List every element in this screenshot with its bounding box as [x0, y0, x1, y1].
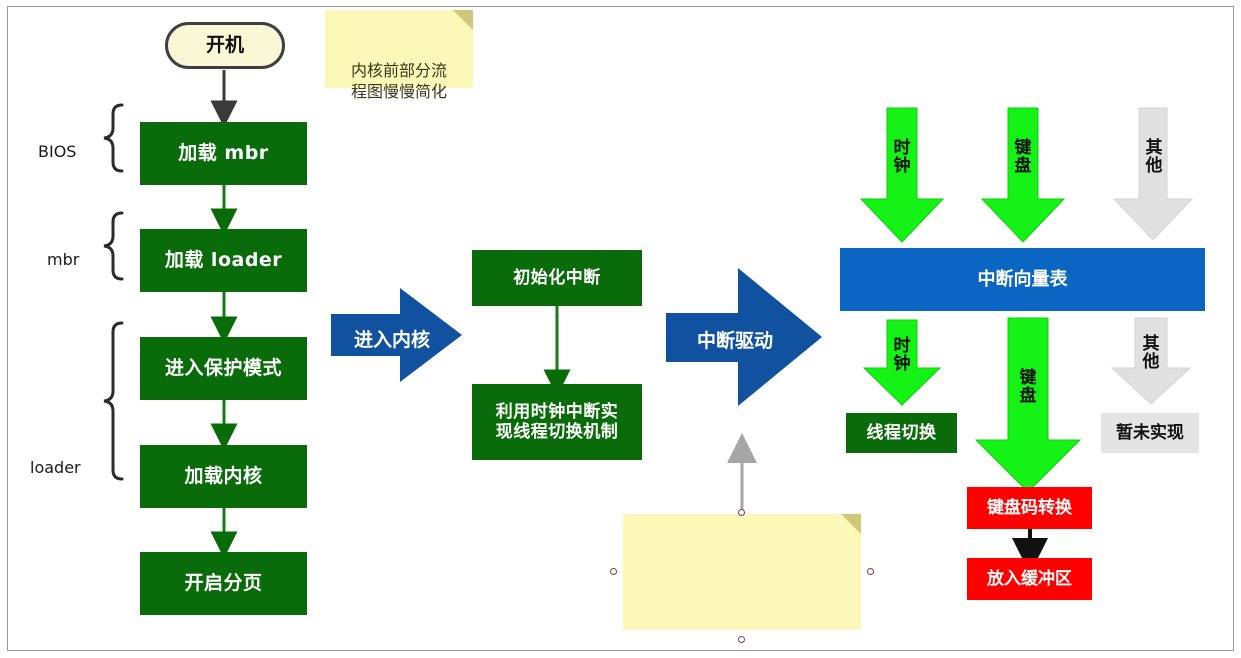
node-load-loader[interactable]: 加载 loader — [140, 229, 307, 292]
node-interrupt-vector-table[interactable]: 中断向量表 — [840, 248, 1205, 311]
sticky-note-top-text: 内核前部分流 程图慢慢简化 — [351, 61, 447, 101]
note-fold-icon — [453, 10, 473, 30]
node-thread-switch[interactable]: 线程切换 — [846, 413, 957, 453]
note-handle-right[interactable] — [867, 568, 874, 575]
note-handle-bottom[interactable] — [738, 636, 745, 643]
dispatch-arrow-label-other: 其 他 — [1136, 336, 1166, 372]
note-handle-left[interactable] — [610, 568, 617, 575]
sticky-note-bottom[interactable]: 此为对操作系统的理解， 操作系统就是一个中断驱 动的死循环程序 — [623, 514, 861, 630]
stage-arrow-label-enter-kernel: 进入内核 — [342, 325, 442, 352]
note-fold-icon — [841, 514, 861, 534]
dispatch-arrow-label-clock: 时 钟 — [887, 338, 917, 374]
source-arrow-label-other: 其 他 — [1139, 140, 1169, 176]
node-load-kernel[interactable]: 加载内核 — [140, 445, 307, 508]
node-enable-paging[interactable]: 开启分页 — [140, 552, 307, 615]
node-start-power-on[interactable]: 开机 — [165, 22, 285, 69]
node-put-into-buffer[interactable]: 放入缓冲区 — [967, 558, 1092, 600]
stage-arrow-label-interrupt-driven: 中断驱动 — [680, 326, 790, 353]
note-handle-anchor[interactable] — [738, 509, 745, 516]
node-enter-protected-mode[interactable]: 进入保护模式 — [140, 337, 307, 400]
node-load-mbr[interactable]: 加载 mbr — [140, 122, 307, 185]
node-keycode-convert[interactable]: 键盘码转换 — [967, 487, 1092, 529]
source-arrow-label-keyboard: 键 盘 — [1008, 140, 1038, 176]
brace-label-loader: loader — [30, 458, 81, 477]
diagram-canvas: BIOS mbr loader 开机 加载 mbr 加载 loader 进入保护… — [0, 0, 1241, 658]
dispatch-arrow-label-keyboard: 键 盘 — [1013, 370, 1043, 406]
source-arrow-label-clock: 时 钟 — [887, 140, 917, 176]
brace-label-bios: BIOS — [38, 142, 76, 161]
node-not-implemented[interactable]: 暂未实现 — [1101, 413, 1199, 453]
node-init-interrupt[interactable]: 初始化中断 — [472, 250, 642, 306]
brace-label-mbr: mbr — [47, 250, 79, 269]
node-clock-thread-switch[interactable]: 利用时钟中断实 现线程切换机制 — [472, 384, 642, 460]
sticky-note-top[interactable]: 内核前部分流 程图慢慢简化 — [325, 10, 473, 88]
